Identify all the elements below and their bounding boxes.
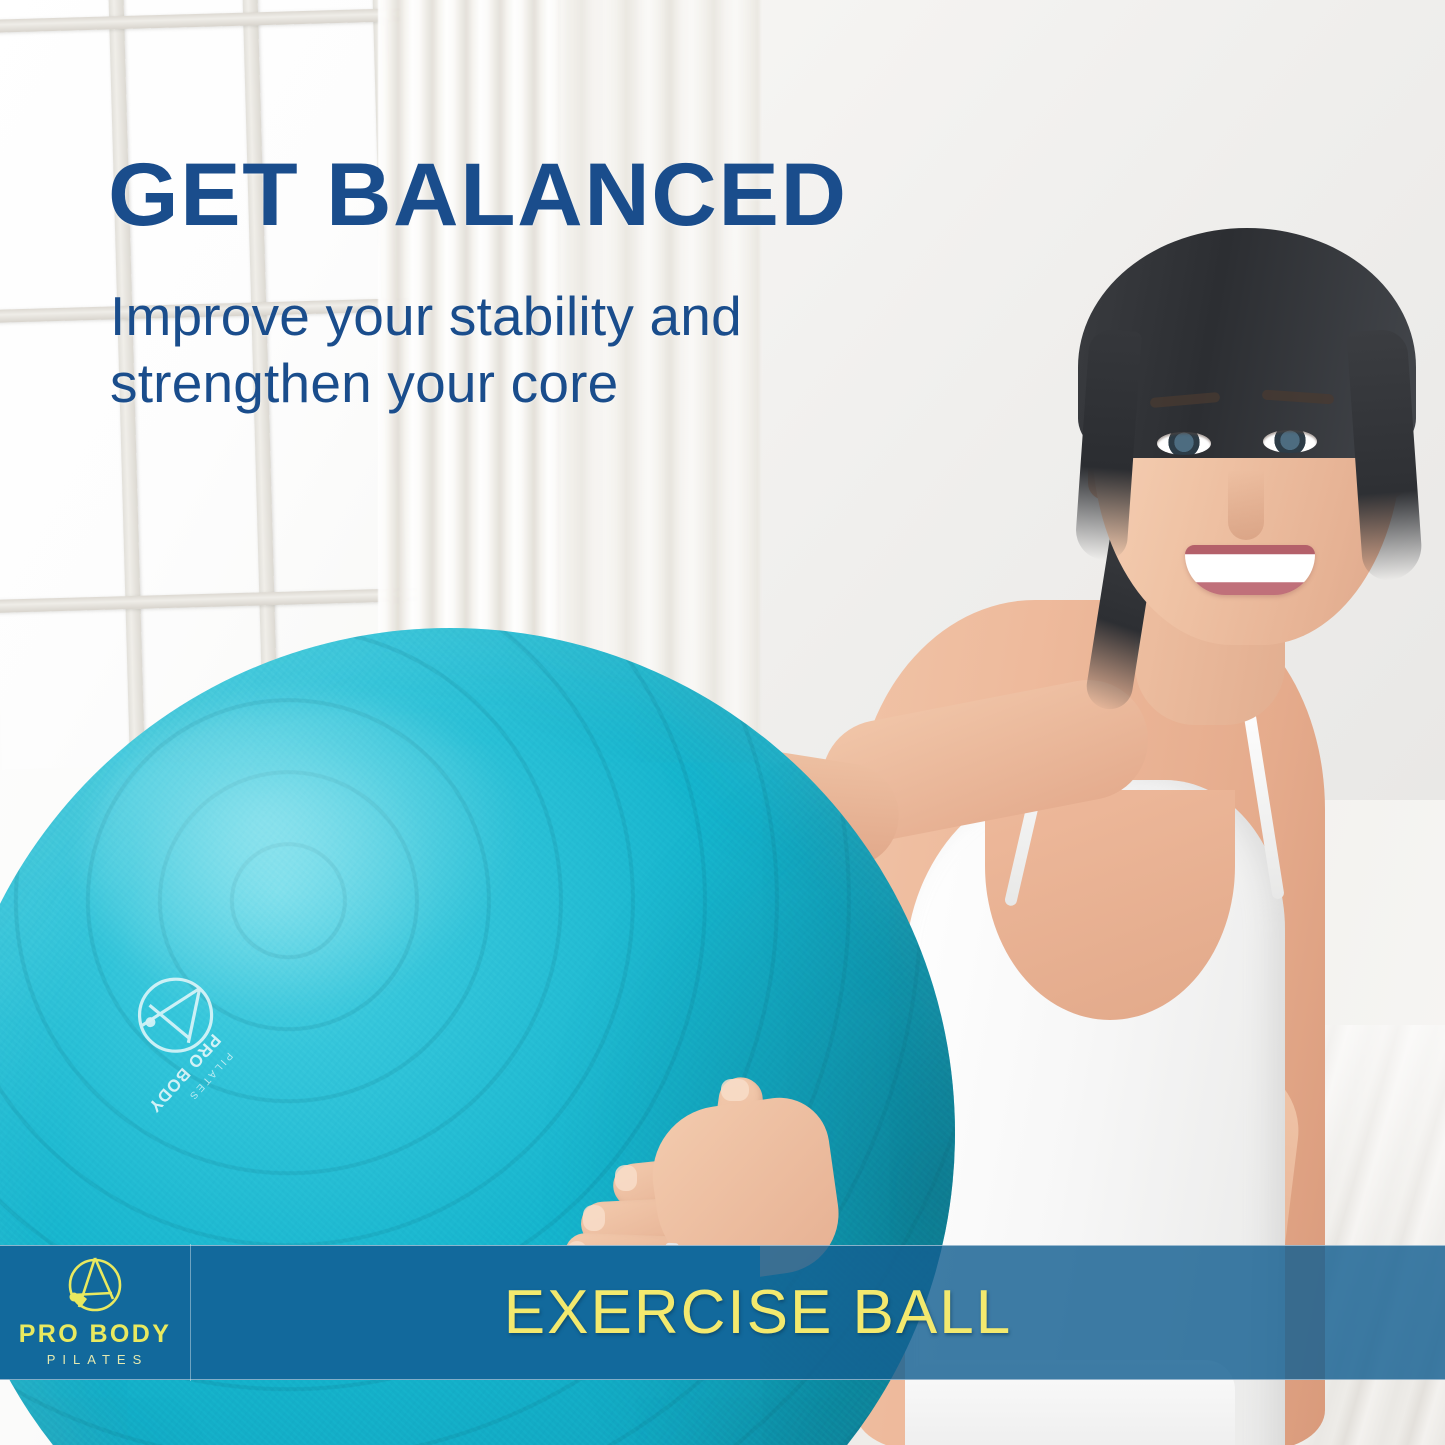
page-subheading: Improve your stability and strengthen yo… [110,283,742,417]
brand-name: PRO BODY [19,1322,172,1347]
fingernail [583,1205,605,1231]
brand-tagline: PILATES [47,1353,149,1366]
pilates-figure-circle-logo-icon [57,1255,133,1321]
model-eye-left [1157,432,1211,455]
brand-lockup: PRO BODY PILATES [0,1244,191,1381]
model-eye-right [1263,430,1317,453]
fingernail [721,1079,749,1101]
bottom-banner: PRO BODY PILATES EXERCISE BALL [0,1245,1445,1380]
page-headline: GET BALANCED [108,150,848,239]
window-mullion-horizontal [0,588,418,613]
model-smile [1185,545,1315,595]
banner-content: PRO BODY PILATES EXERCISE BALL [0,1246,1445,1379]
product-image-canvas: PRO BODY PILATES GET BALANCED Improve yo… [0,0,1445,1445]
subheading-line-2: strengthen your core [110,350,742,417]
banner-product-title: EXERCISE BALL [191,1277,1445,1348]
window-mullion-horizontal [0,8,401,33]
subheading-line-1: Improve your stability and [110,283,742,350]
model-nose [1228,470,1264,540]
fingernail [615,1165,637,1191]
